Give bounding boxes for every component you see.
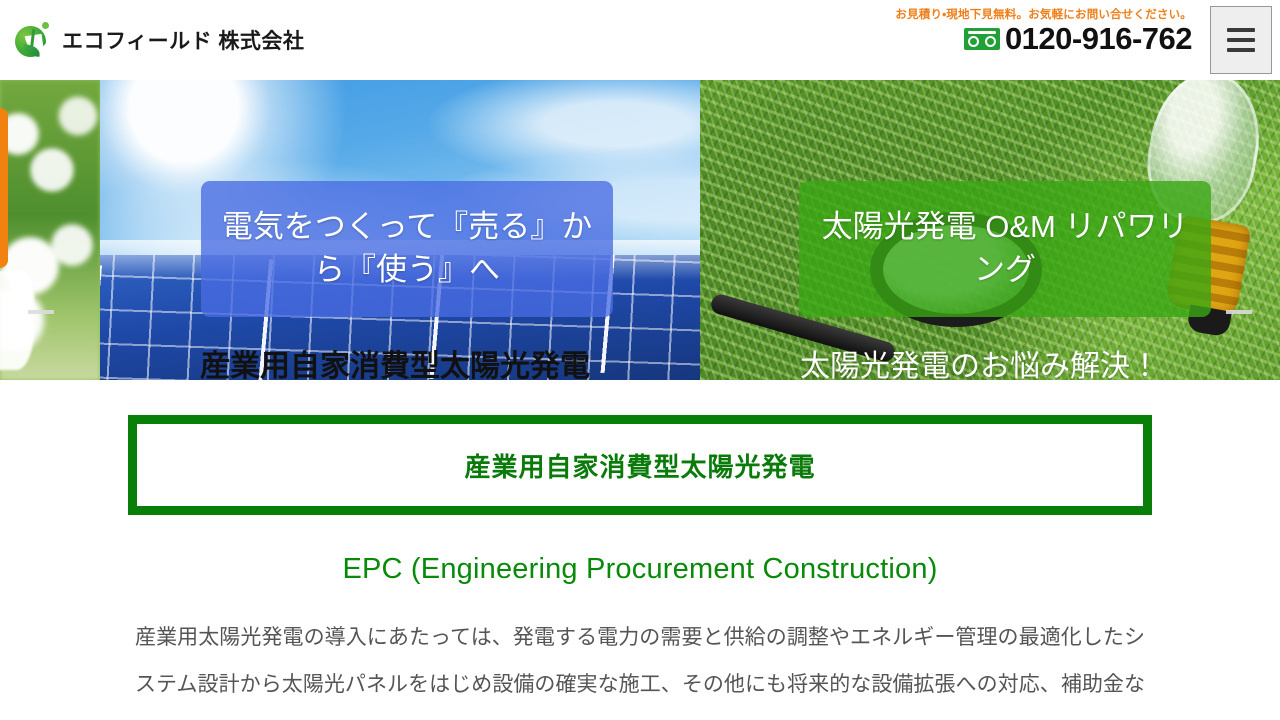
hero-slider[interactable]: 電気をつくって『売る』から『使う』へ 産業用自家消費型太陽光発電 太陽光発電 O… (0, 80, 1280, 380)
menu-bar-2 (1227, 38, 1255, 42)
brand-name: エコフィールド 株式会社 (62, 25, 304, 55)
orange-accent-shape (0, 108, 8, 268)
leaf-logo-icon (14, 21, 52, 59)
next-slide-arrow-icon[interactable] (1226, 310, 1252, 314)
hero-slide-previous[interactable] (0, 80, 100, 380)
section-banner-title: 産業用自家消費型太陽光発電 (464, 447, 815, 484)
phone-number[interactable]: 0120-916-762 (1005, 23, 1192, 54)
header-contact: お見積り・現地下見無料。お気軽にお問い合せください。 0120-916-762 (895, 6, 1192, 54)
hero-overlay-self-consumption: 電気をつくって『売る』から『使う』へ (201, 181, 613, 317)
site-header: エコフィールド 株式会社 お見積り・現地下見無料。お気軽にお問い合せください。 … (0, 0, 1280, 80)
white-accent-shape (0, 270, 34, 370)
main-content: 産業用自家消費型太陽光発電 EPC (Engineering Procureme… (0, 380, 1280, 720)
hero-overlay-om-repowering: 太陽光発電 O&M リパワリング (799, 181, 1211, 317)
section-heading-epc: EPC (Engineering Procurement Constructio… (0, 553, 1280, 586)
hero-subtitle-om-repowering: 太陽光発電のお悩み解決！ (800, 346, 1210, 380)
phone-row[interactable]: 0120-916-762 (895, 23, 1192, 54)
freedial-icon (964, 28, 1000, 50)
hero-subtitle-self-consumption: 産業用自家消費型太陽光発電 (200, 346, 600, 380)
brand-logo[interactable]: エコフィールド 株式会社 (14, 21, 304, 59)
prev-slide-arrow-icon[interactable] (28, 310, 54, 314)
section-banner: 産業用自家消費型太陽光発電 (128, 415, 1152, 515)
contact-note: お見積り・現地下見無料。お気軽にお問い合せください。 (895, 6, 1192, 22)
section-body-text: 産業用太陽光発電の導入にあたっては、発電する電力の需要と供給の調整やエネルギー管… (135, 614, 1145, 720)
menu-bar-3 (1227, 48, 1255, 52)
hamburger-menu-icon[interactable] (1210, 6, 1272, 74)
menu-bar-1 (1227, 28, 1255, 32)
